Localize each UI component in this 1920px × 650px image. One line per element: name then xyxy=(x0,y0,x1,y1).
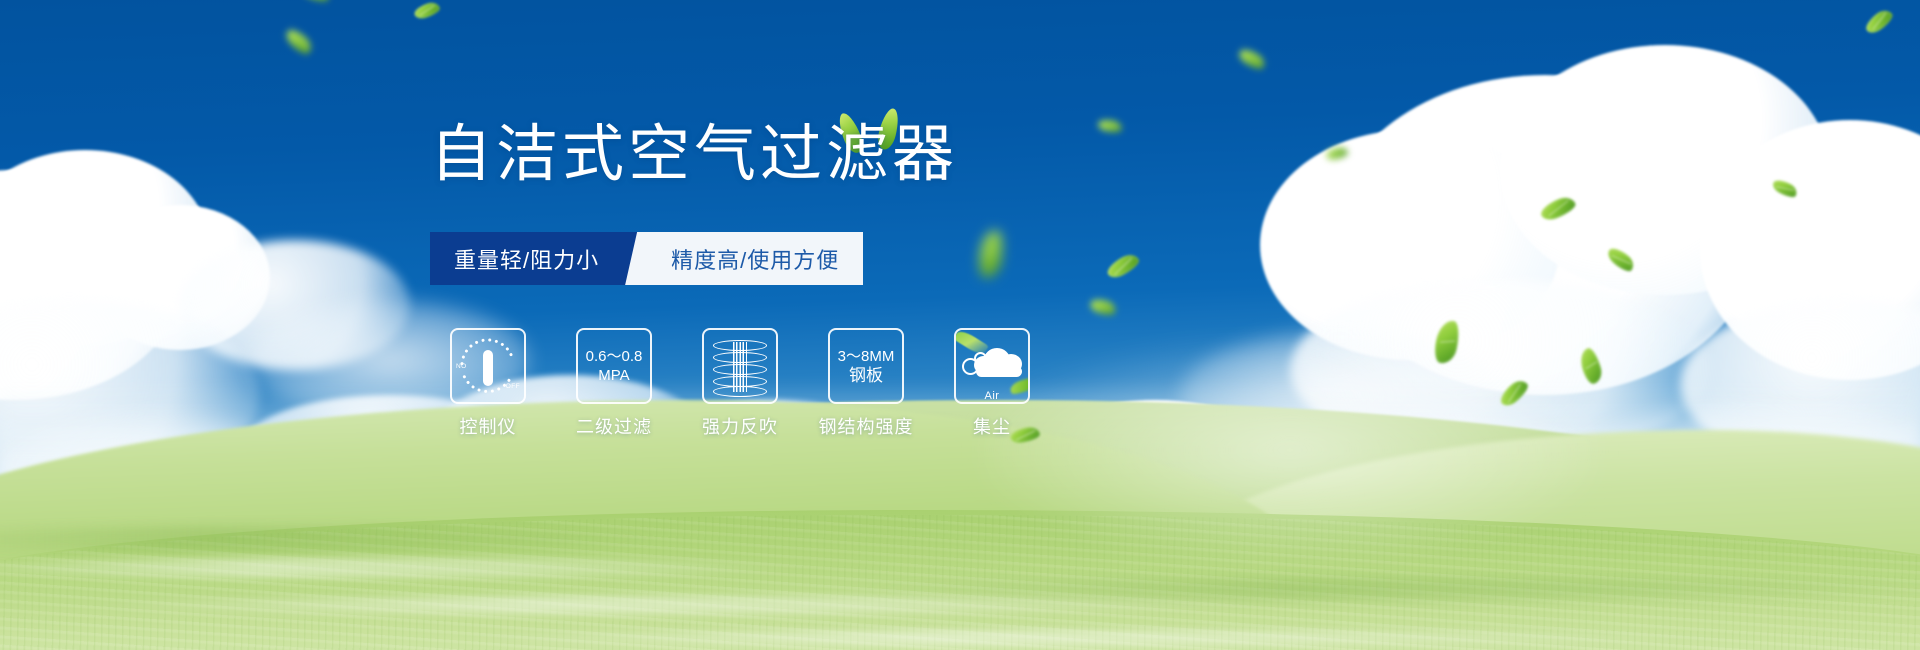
pressure-value: 0.6～0.8 xyxy=(586,347,643,366)
feature-item-controller[interactable]: NO OFF 控制仪 xyxy=(438,328,538,439)
steel-material: 钢板 xyxy=(849,366,883,386)
steel-thickness: 3～8MM xyxy=(838,347,895,366)
feature-label-controller: 控制仪 xyxy=(460,413,517,439)
filter-coil-icon xyxy=(713,338,767,394)
page-title: 自洁式空气过滤器 xyxy=(430,124,958,186)
dial-label-off: OFF xyxy=(506,383,520,390)
feature-label-backblow: 强力反吹 xyxy=(702,413,778,439)
cloud-base xyxy=(976,366,1022,377)
feature-box-dust: Air xyxy=(954,328,1030,404)
control-dial-icon: NO OFF xyxy=(457,337,519,395)
feature-item-backblow[interactable]: 强力反吹 xyxy=(690,328,790,439)
tab-feature-precision[interactable]: 精度高/使用方便 xyxy=(655,232,863,285)
feature-label-steel-strength: 钢结构强度 xyxy=(819,413,914,439)
feature-box-steel: 3～8MM 钢板 xyxy=(828,328,904,404)
feature-box-controller: NO OFF xyxy=(450,328,526,404)
dial-label-no: NO xyxy=(456,363,467,370)
feature-item-steel-strength[interactable]: 3～8MM 钢板 钢结构强度 xyxy=(816,328,916,439)
feature-box-pressure: 0.6～0.8 MPA xyxy=(576,328,652,404)
feature-item-dust-collection[interactable]: Air 集尘 xyxy=(942,328,1042,439)
feature-box-backblow xyxy=(702,328,778,404)
hero-banner: 自洁式空气过滤器 重量轻/阻力小 精度高/使用方便 xyxy=(0,0,1920,650)
tab-divider-wedge xyxy=(625,232,655,285)
feature-label-two-stage-filter: 二级过滤 xyxy=(576,413,652,439)
tab-feature-lightweight[interactable]: 重量轻/阻力小 xyxy=(430,232,625,285)
dial-needle xyxy=(483,350,493,386)
subtitle-tabs: 重量轻/阻力小 精度高/使用方便 xyxy=(430,232,863,285)
feature-item-two-stage-filter[interactable]: 0.6～0.8 MPA 二级过滤 xyxy=(564,328,664,439)
cloud-swirl-inner xyxy=(974,352,987,365)
feature-label-dust-collection: 集尘 xyxy=(973,413,1011,439)
banner-content: 自洁式空气过滤器 重量轻/阻力小 精度高/使用方便 xyxy=(0,0,1920,650)
pressure-unit: MPA xyxy=(598,366,629,385)
feature-icon-row: NO OFF 控制仪 0.6～0.8 MPA 二级过滤 xyxy=(438,328,1042,439)
